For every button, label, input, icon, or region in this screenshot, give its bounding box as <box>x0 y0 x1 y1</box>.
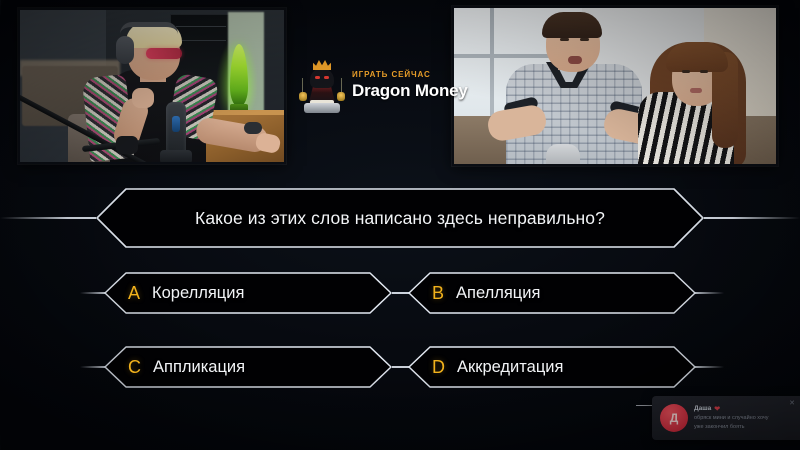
chat-notification-toast[interactable]: Д Даша ❤ обряск мини и случайно хочу уже… <box>652 396 800 440</box>
dragon-money-ad-text: ИГРАТЬ СЕЙЧАС Dragon Money <box>352 71 468 99</box>
right-cam-microphone <box>546 144 580 166</box>
answer-b-letter: B <box>432 283 444 304</box>
answer-d-letter: D <box>432 357 445 378</box>
toast-body: Даша ❤ обряск мини и случайно хочу уже з… <box>694 405 794 432</box>
question-connector-right <box>704 217 800 219</box>
answer-c-letter: C <box>128 357 141 378</box>
heart-icon: ❤ <box>714 405 720 413</box>
answer-option-c[interactable]: C Аппликация <box>104 346 392 388</box>
right-cam-person2-hair-front <box>666 42 728 72</box>
answer-connector-b-right <box>694 292 724 294</box>
close-icon[interactable]: ✕ <box>789 400 795 407</box>
toast-username: Даша <box>694 405 711 412</box>
answer-c-text: Аппликация <box>153 358 245 377</box>
webcam-left <box>18 8 286 164</box>
toast-username-row: Даша ❤ <box>694 405 794 413</box>
right-cam-window-frame-vertical <box>490 8 494 118</box>
left-cam-headphone-cup <box>116 36 134 64</box>
right-cam-person2-lips <box>690 88 702 93</box>
right-cam-person1-eye-left <box>560 38 569 41</box>
answer-connector-c-left <box>80 366 106 368</box>
dragon-money-ad[interactable]: ИГРАТЬ СЕЙЧАС Dragon Money <box>300 52 456 118</box>
quiz-overlay: Какое из этих слов написано здесь неправ… <box>0 178 800 408</box>
answer-b-text: Апелляция <box>456 284 540 303</box>
toast-message-line-2: уже закончил боять <box>694 423 794 432</box>
right-cam-person2-eye-right <box>700 70 708 73</box>
answer-connector-d-right <box>694 366 724 368</box>
answer-option-a[interactable]: A Корелляция <box>104 272 392 314</box>
answer-a-text: Корелляция <box>152 284 244 303</box>
right-cam-person2-eye-left <box>682 70 690 73</box>
ad-brand-name: Dragon Money <box>352 82 468 99</box>
left-cam-mic-clamp <box>116 136 138 154</box>
answer-option-d[interactable]: D Аккредитация <box>408 346 696 388</box>
crowned-dragon-mascot-icon <box>300 56 344 114</box>
answer-a-letter: A <box>128 283 140 304</box>
answer-connector-a-left <box>80 292 106 294</box>
left-cam-microphone-led <box>172 116 180 132</box>
question-text: Какое из этих слов написано здесь неправ… <box>195 208 605 229</box>
answer-d-text: Аккредитация <box>457 358 563 377</box>
question-panel: Какое из этих слов написано здесь неправ… <box>96 188 704 248</box>
ad-kicker: ИГРАТЬ СЕЙЧАС <box>352 71 468 79</box>
left-cam-mouse <box>244 122 262 134</box>
toast-message-line-1: обряск мини и случайно хочу <box>694 414 794 423</box>
question-connector-left <box>0 217 96 219</box>
right-cam-person1-mouth <box>568 56 582 64</box>
right-cam-person1-eye-right <box>580 38 589 41</box>
left-cam-cabinet-line <box>176 26 226 27</box>
left-cam-microphone-base <box>160 150 192 164</box>
left-cam-person-sunglasses <box>146 48 182 59</box>
answer-option-b[interactable]: B Апелляция <box>408 272 696 314</box>
stream-stage: ИГРАТЬ СЕЙЧАС Dragon Money Какое из этих… <box>0 0 800 450</box>
webcam-right <box>452 6 778 166</box>
right-cam-person1-hair <box>542 12 602 38</box>
left-cam-headphone-band <box>120 22 178 34</box>
left-cam-person-fist <box>132 88 154 108</box>
avatar: Д <box>660 404 688 432</box>
